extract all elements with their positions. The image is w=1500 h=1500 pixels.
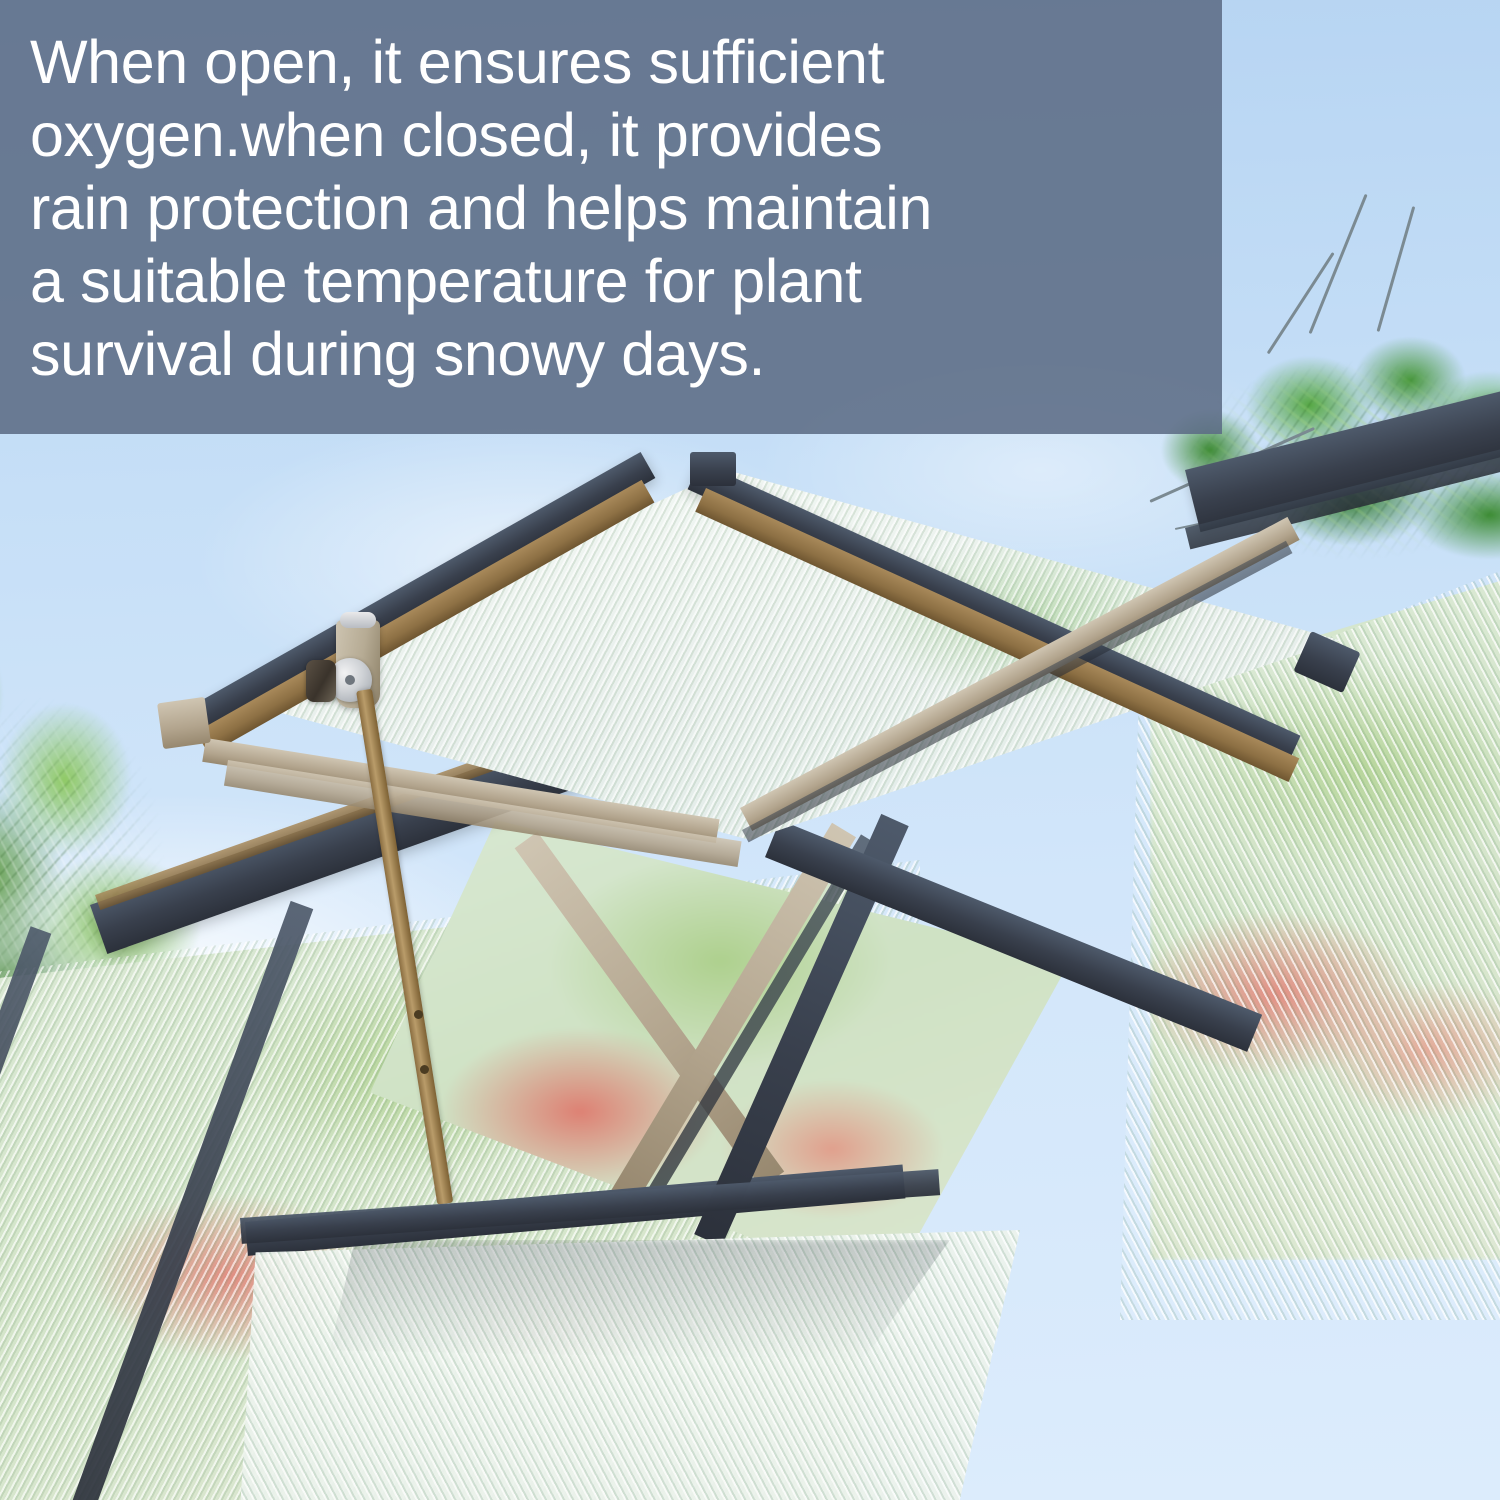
vent-frame-corner-left: [157, 697, 211, 749]
screenshot-root: When open, it ensures sufficient oxygen.…: [0, 0, 1500, 1500]
vent-stay-arm-hole-icon: [420, 1065, 429, 1074]
vent-stay-arm-hole-icon: [414, 1010, 423, 1019]
caption-overlay-panel: When open, it ensures sufficient oxygen.…: [0, 0, 1222, 434]
vent-frame-corner-top: [690, 452, 736, 486]
vent-hinge-pivot-screw-icon: [345, 675, 355, 685]
caption-text: When open, it ensures sufficient oxygen.…: [30, 26, 1192, 391]
vent-cast-shadow: [330, 1240, 950, 1360]
vent-hinge-roller: [306, 660, 336, 702]
vent-hinge-top-bolt: [340, 612, 376, 628]
